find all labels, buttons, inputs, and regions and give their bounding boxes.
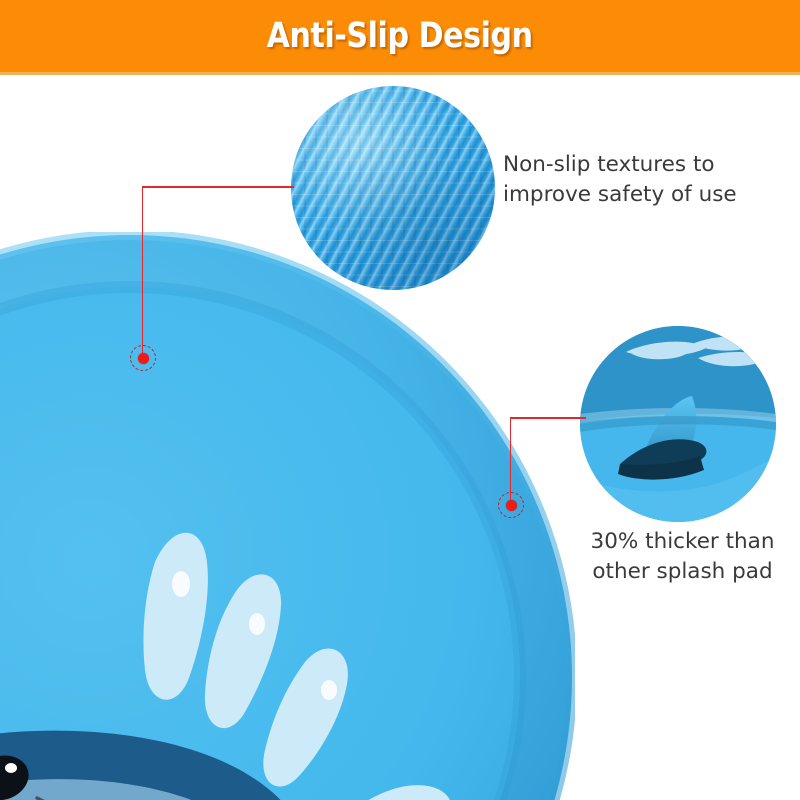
thickness-closeup-circle	[580, 326, 776, 522]
callout-text-texture: Non-slip textures to improve safety of u…	[503, 150, 737, 210]
leader-line-thickness-horizontal	[510, 417, 586, 419]
product-splash-pad	[0, 232, 575, 800]
callout-texture-line2: improve safety of use	[503, 180, 737, 210]
header-banner: Anti-Slip Design	[0, 0, 800, 72]
callout-text-thickness: 30% thicker than other splash pad	[590, 527, 775, 587]
marker-dot-icon	[138, 353, 149, 364]
infographic-canvas: Anti-Slip Design	[0, 0, 800, 800]
thickness-closeup-art	[580, 326, 776, 522]
marker-thickness[interactable]	[498, 492, 526, 520]
texture-closeup-circle	[291, 86, 495, 290]
texture-shading	[291, 86, 495, 290]
leader-line-texture-vertical	[142, 187, 144, 357]
page-title: Anti-Slip Design	[267, 16, 533, 56]
callout-texture-line1: Non-slip textures to	[503, 150, 737, 180]
leader-line-texture-horizontal	[142, 186, 294, 188]
callout-thickness-line1: 30% thicker than	[590, 527, 775, 557]
callout-thickness-line2: other splash pad	[590, 557, 775, 587]
banner-underline	[0, 72, 800, 75]
marker-texture[interactable]	[130, 345, 158, 373]
marker-dot-icon	[506, 500, 517, 511]
